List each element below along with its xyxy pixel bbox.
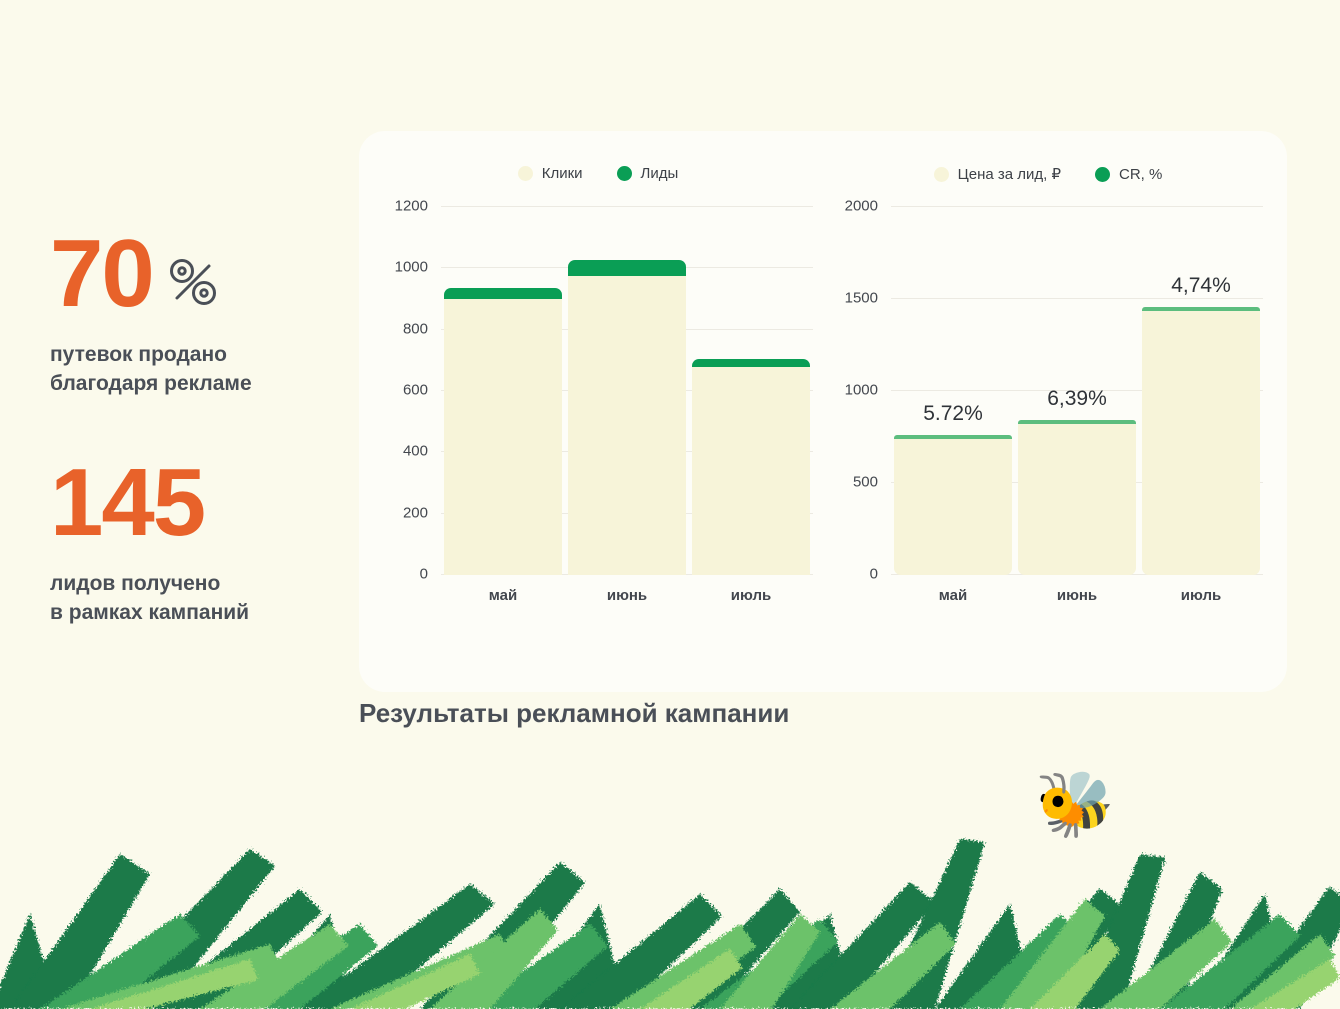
chart-legend: Клики Лиды — [383, 165, 813, 182]
plot-area: 0 200 400 600 800 1000 1200 — [441, 207, 813, 575]
x-axis-labels: май июнь июль — [441, 587, 813, 604]
bar-segment-clicks — [568, 276, 686, 575]
x-axis-labels: май июнь июль — [891, 587, 1263, 604]
x-tick-label: июнь — [1015, 587, 1139, 604]
cr-value-label: 4,74% — [1171, 274, 1231, 298]
bar-segment-clicks — [692, 367, 810, 576]
y-tick-label: 0 — [420, 566, 428, 583]
kpi-panel: 70 путевок продано благодаря рекламе 145… — [50, 228, 340, 628]
cpl-bar[interactable]: 5.72% — [894, 435, 1012, 575]
cr-value-label: 5.72% — [923, 402, 983, 426]
y-tick-label: 200 — [403, 504, 428, 521]
kpi-number-row: 70 — [50, 228, 340, 319]
legend-label: Цена за лид, ₽ — [958, 165, 1061, 183]
x-tick-label: май — [441, 587, 565, 604]
bar-segment-leads — [444, 288, 562, 299]
bar-slot-june: 6,39% — [1015, 207, 1139, 575]
bars-group: 5.72% 6,39% 4,74 — [891, 207, 1263, 575]
percent-icon — [167, 256, 219, 312]
legend-swatch-icon — [617, 166, 632, 181]
bars-group — [441, 207, 813, 575]
kpi-caption: лидов получено в рамках кампаний — [50, 570, 340, 628]
y-tick-label: 500 — [853, 474, 878, 491]
y-tick-label: 600 — [403, 382, 428, 399]
kpi-caption: путевок продано благодаря рекламе — [50, 341, 340, 399]
cr-value-label: 6,39% — [1047, 387, 1107, 411]
legend-swatch-icon — [518, 166, 533, 181]
chart-cpl-cr: Цена за лид, ₽ CR, % 0 500 1000 — [833, 189, 1263, 619]
bar-slot-july: 4,74% — [1139, 207, 1263, 575]
legend-item-leads[interactable]: Лиды — [617, 165, 679, 182]
bar-segment-cpl — [1018, 424, 1136, 575]
legend-item-cost-per-lead[interactable]: Цена за лид, ₽ — [934, 165, 1061, 183]
x-tick-label: июнь — [565, 587, 689, 604]
bar-slot-july — [689, 207, 813, 575]
legend-item-clicks[interactable]: Клики — [518, 165, 583, 182]
charts-row: Клики Лиды 0 200 400 600 — [359, 131, 1287, 692]
bar-segment-leads — [692, 359, 810, 366]
legend-label: Клики — [542, 165, 583, 182]
legend-label: Лиды — [641, 165, 679, 182]
bar-segment-cpl — [894, 439, 1012, 575]
chart-card: Клики Лиды 0 200 400 600 — [359, 131, 1287, 692]
legend-label: CR, % — [1119, 166, 1162, 183]
bar-slot-june — [565, 207, 689, 575]
x-tick-label: июль — [1139, 587, 1263, 604]
grass-decoration — [0, 794, 1340, 1009]
bar-segment-leads — [568, 260, 686, 276]
bar-slot-may — [441, 207, 565, 575]
y-tick-label: 1000 — [395, 259, 428, 276]
cpl-bar[interactable]: 4,74% — [1142, 307, 1260, 575]
y-tick-label: 400 — [403, 443, 428, 460]
y-tick-label: 1200 — [395, 198, 428, 215]
kpi-number-value: 145 — [50, 457, 204, 548]
legend-item-cr[interactable]: CR, % — [1095, 166, 1162, 183]
figure-caption: Результаты рекламной кампании — [359, 698, 789, 729]
chart-legend: Цена за лид, ₽ CR, % — [833, 165, 1263, 183]
stacked-bar[interactable] — [692, 359, 810, 575]
x-tick-label: июль — [689, 587, 813, 604]
y-tick-label: 1000 — [845, 382, 878, 399]
kpi-number-row: 145 — [50, 457, 340, 548]
y-tick-label: 0 — [870, 566, 878, 583]
y-tick-label: 2000 — [845, 198, 878, 215]
y-tick-label: 800 — [403, 320, 428, 337]
stacked-bar[interactable] — [568, 260, 686, 575]
kpi-number-value: 70 — [50, 228, 153, 319]
stacked-bar[interactable] — [444, 288, 562, 575]
kpi-block-leads: 145 лидов получено в рамках кампаний — [50, 457, 340, 628]
legend-swatch-icon — [934, 167, 949, 182]
bee-icon: 🐝 — [1035, 772, 1115, 836]
x-tick-label: май — [891, 587, 1015, 604]
bar-segment-clicks — [444, 299, 562, 575]
chart-clicks-leads: Клики Лиды 0 200 400 600 — [383, 189, 813, 619]
cpl-bar[interactable]: 6,39% — [1018, 420, 1136, 575]
kpi-block-conversion: 70 путевок продано благодаря рекламе — [50, 228, 340, 399]
plot-area: 0 500 1000 1500 2000 5.72% — [891, 207, 1263, 575]
bar-slot-may: 5.72% — [891, 207, 1015, 575]
bar-segment-cpl — [1142, 311, 1260, 575]
y-tick-label: 1500 — [845, 290, 878, 307]
legend-swatch-icon — [1095, 167, 1110, 182]
